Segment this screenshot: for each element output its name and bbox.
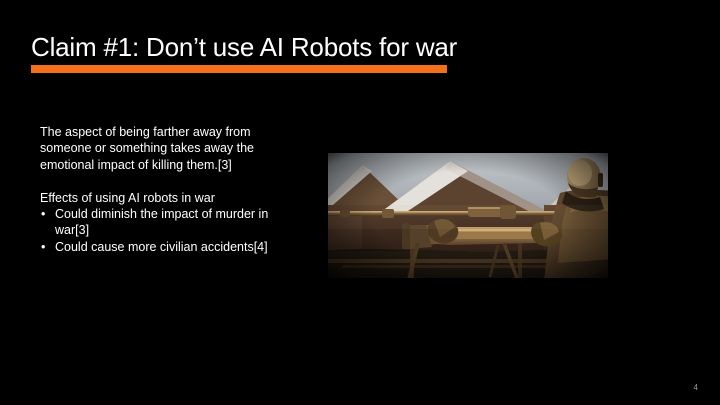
bullet-marker-icon: • — [41, 239, 45, 255]
page-title: Claim #1: Don’t use AI Robots for war — [31, 31, 591, 63]
slide-canvas: Claim #1: Don’t use AI Robots for war Th… — [0, 0, 720, 405]
title-underline-rule — [31, 65, 447, 73]
title-block: Claim #1: Don’t use AI Robots for war — [31, 31, 591, 63]
bullet-list: • Could diminish the impact of murder in… — [40, 206, 280, 255]
list-item-label: Could cause more civilian accidents[4] — [55, 240, 268, 254]
list-heading: Effects of using AI robots in war — [40, 190, 280, 206]
list-item: • Could cause more civilian accidents[4] — [40, 239, 280, 255]
list-item-label: Could diminish the impact of murder in w… — [55, 207, 268, 237]
body-paragraph: The aspect of being farther away from so… — [40, 124, 280, 173]
paragraph-spacer — [40, 173, 280, 189]
soldier-with-rifle-illustration — [322, 147, 614, 284]
bullet-marker-icon: • — [41, 206, 45, 222]
slide-photo — [322, 147, 614, 284]
list-item: • Could diminish the impact of murder in… — [40, 206, 280, 239]
body-text-column: The aspect of being farther away from so… — [40, 124, 280, 255]
page-number: 4 — [694, 383, 698, 393]
